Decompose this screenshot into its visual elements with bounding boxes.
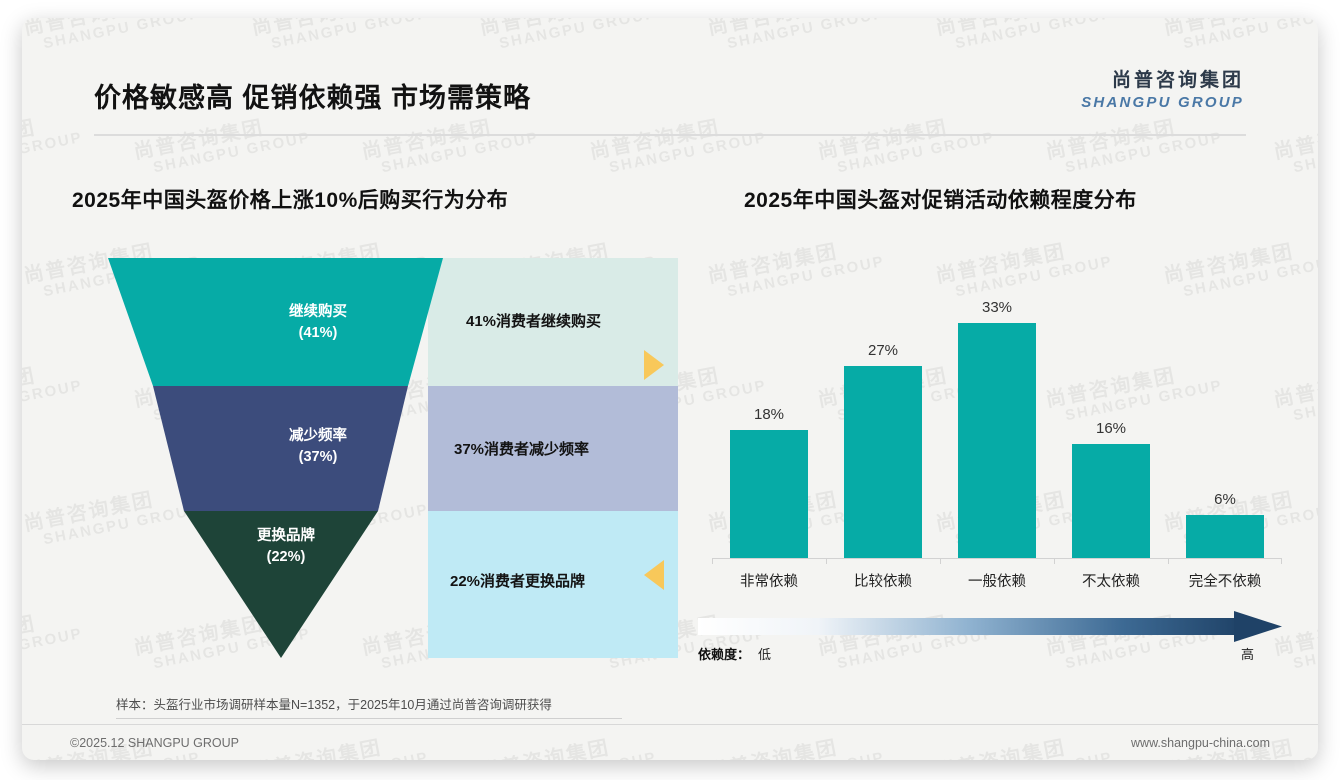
funnel-label-1: 减少频率(37%) <box>238 426 398 467</box>
funnel-label-0: 继续购买(41%) <box>238 302 398 343</box>
slide-header: 价格敏感高 促销依赖强 市场需策略 尚普咨询集团 SHANGPU GROUP <box>22 18 1318 136</box>
arrow-right-icon <box>644 350 664 380</box>
watermark-text: 尚普咨询集团SHANGPU GROUP <box>934 728 1114 760</box>
logo-english-text: SHANGPU GROUP <box>1081 93 1244 113</box>
funnel-description-2: 22%消费者更换品牌 <box>450 570 585 591</box>
bar-value-label: 6% <box>1214 491 1236 508</box>
header-divider <box>94 134 1246 136</box>
right-chart-title: 2025年中国头盔对促销活动依赖程度分布 <box>744 184 1137 214</box>
brand-logo: 尚普咨询集团 SHANGPU GROUP <box>1081 70 1244 112</box>
bar-value-label: 18% <box>754 406 784 423</box>
x-axis-tick <box>1054 558 1055 564</box>
sample-footnote: 样本：头盔行业市场调研样本量N=1352，于2025年10月通过尚普咨询调研获得 <box>116 694 552 713</box>
x-axis-label: 不太依赖 <box>1056 570 1166 591</box>
footer-website: www.shangpu-china.com <box>1131 736 1270 750</box>
footer-copyright: ©2025.12 SHANGPU GROUP <box>70 736 239 750</box>
footnote-divider <box>116 718 622 719</box>
bar-chart: 18%27%33%16%6% 非常依赖比较依赖一般依赖不太依赖完全不依赖 <box>712 268 1282 588</box>
legend-title: 依赖度： <box>698 644 750 663</box>
funnel-label-line: (37%) <box>238 447 398 468</box>
x-axis-tick <box>1168 558 1169 564</box>
watermark-text: 尚普咨询集团SHANGPU GROUP <box>706 728 886 760</box>
x-axis-label: 完全不依赖 <box>1170 570 1280 591</box>
x-axis-label: 一般依赖 <box>942 570 1052 591</box>
x-axis-labels: 非常依赖比较依赖一般依赖不太依赖完全不依赖 <box>712 570 1282 600</box>
watermark-text: 尚普咨询集团SHANGPU GROUP <box>22 604 84 676</box>
legend-high-label: 高 <box>1241 644 1254 663</box>
bar-column[interactable]: 6% <box>1186 268 1264 558</box>
x-axis-label: 比较依赖 <box>828 570 938 591</box>
left-chart-title: 2025年中国头盔价格上涨10%后购买行为分布 <box>72 184 508 214</box>
logo-chinese-text: 尚普咨询集团 <box>1081 70 1244 93</box>
bar-column[interactable]: 33% <box>958 268 1036 558</box>
funnel-label-line: (22%) <box>206 547 366 568</box>
bar-value-label: 33% <box>982 299 1012 316</box>
legend-low-label: 低 <box>758 644 771 663</box>
funnel-description-0: 41%消费者继续购买 <box>466 310 601 331</box>
bar-rect[interactable] <box>844 366 922 558</box>
x-axis-label: 非常依赖 <box>714 570 824 591</box>
funnel-label-line: (41%) <box>238 323 398 344</box>
bar-column[interactable]: 16% <box>1072 268 1150 558</box>
bar-rect[interactable] <box>1072 444 1150 558</box>
x-axis-tick <box>712 558 713 564</box>
funnel-description-1: 37%消费者减少频率 <box>454 438 589 459</box>
dependency-legend: 依赖度： 低 高 <box>698 610 1282 672</box>
bar-rect[interactable] <box>958 323 1036 558</box>
x-axis-tick <box>826 558 827 564</box>
bar-plot-area: 18%27%33%16%6% <box>712 268 1282 558</box>
funnel-label-line: 继续购买 <box>238 302 398 323</box>
funnel-label-line: 更换品牌 <box>206 526 366 547</box>
slide-card: 尚普咨询集团SHANGPU GROUP尚普咨询集团SHANGPU GROUP尚普… <box>22 18 1318 760</box>
funnel-label-2: 更换品牌(22%) <box>206 526 366 567</box>
bar-value-label: 27% <box>868 342 898 359</box>
page-title: 价格敏感高 促销依赖强 市场需策略 <box>94 76 531 115</box>
watermark-text: 尚普咨询集团SHANGPU GROUP <box>250 728 430 760</box>
watermark-text: 尚普咨询集团SHANGPU GROUP <box>478 728 658 760</box>
bar-column[interactable]: 27% <box>844 268 922 558</box>
bar-rect[interactable] <box>730 430 808 558</box>
watermark-text: 尚普咨询集团SHANGPU GROUP <box>22 356 84 428</box>
x-axis-tick <box>1281 558 1282 564</box>
funnel-chart: 继续购买(41%) 减少频率(37%) 更换品牌(22%) 41%消费者继续购买… <box>98 258 678 658</box>
x-axis-tick <box>940 558 941 564</box>
bar-value-label: 16% <box>1096 420 1126 437</box>
bar-rect[interactable] <box>1186 515 1264 558</box>
arrow-left-icon <box>644 560 664 590</box>
footer-divider <box>22 724 1318 725</box>
x-axis-line <box>712 558 1282 559</box>
bar-column[interactable]: 18% <box>730 268 808 558</box>
funnel-label-line: 减少频率 <box>238 426 398 447</box>
legend-gradient-arrow <box>698 610 1282 642</box>
